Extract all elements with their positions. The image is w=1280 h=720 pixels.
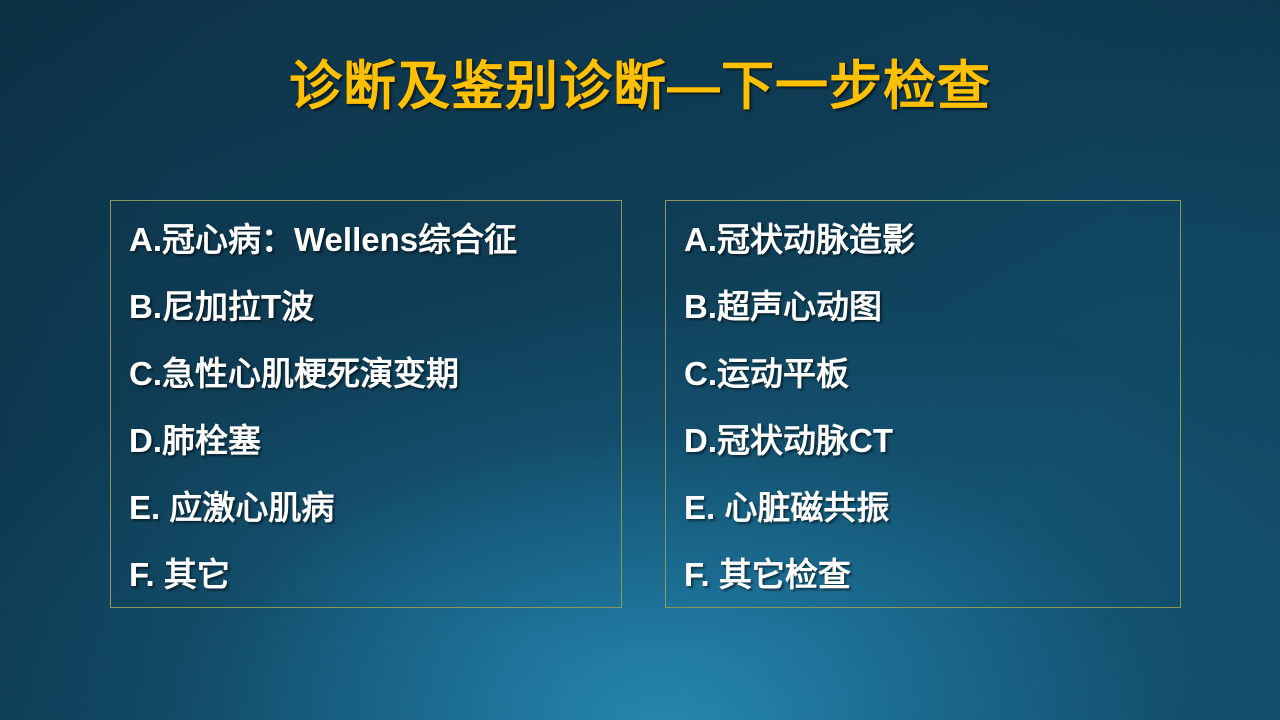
slide-title: 诊断及鉴别诊断—下一步检查 [0, 58, 1280, 116]
diagnosis-options-box: A.冠心病：Wellens综合征 B.尼加拉T波 C.急性心肌梗死演变期 D.肺… [110, 200, 622, 608]
answer-boxes-container: A.冠心病：Wellens综合征 B.尼加拉T波 C.急性心肌梗死演变期 D.肺… [0, 200, 1280, 610]
exam-option-item-e: E. 心脏磁共振 [684, 491, 1180, 558]
option-item-f: F. 其它 [129, 558, 621, 625]
exam-option-item-c: C.运动平板 [684, 357, 1180, 424]
option-item-a: A.冠心病：Wellens综合征 [129, 223, 621, 290]
exam-option-item-f: F. 其它检查 [684, 558, 1180, 625]
examination-options-box: A.冠状动脉造影 B.超声心动图 C.运动平板 D.冠状动脉CT E. 心脏磁共… [665, 200, 1181, 608]
option-item-d: D.肺栓塞 [129, 424, 621, 491]
option-item-c: C.急性心肌梗死演变期 [129, 357, 621, 424]
option-item-b: B.尼加拉T波 [129, 290, 621, 357]
exam-option-item-d: D.冠状动脉CT [684, 424, 1180, 491]
option-item-e: E. 应激心肌病 [129, 491, 621, 558]
exam-option-item-b: B.超声心动图 [684, 290, 1180, 357]
exam-option-item-a: A.冠状动脉造影 [684, 223, 1180, 290]
slide: 诊断及鉴别诊断—下一步检查 A.冠心病：Wellens综合征 B.尼加拉T波 C… [0, 0, 1280, 720]
